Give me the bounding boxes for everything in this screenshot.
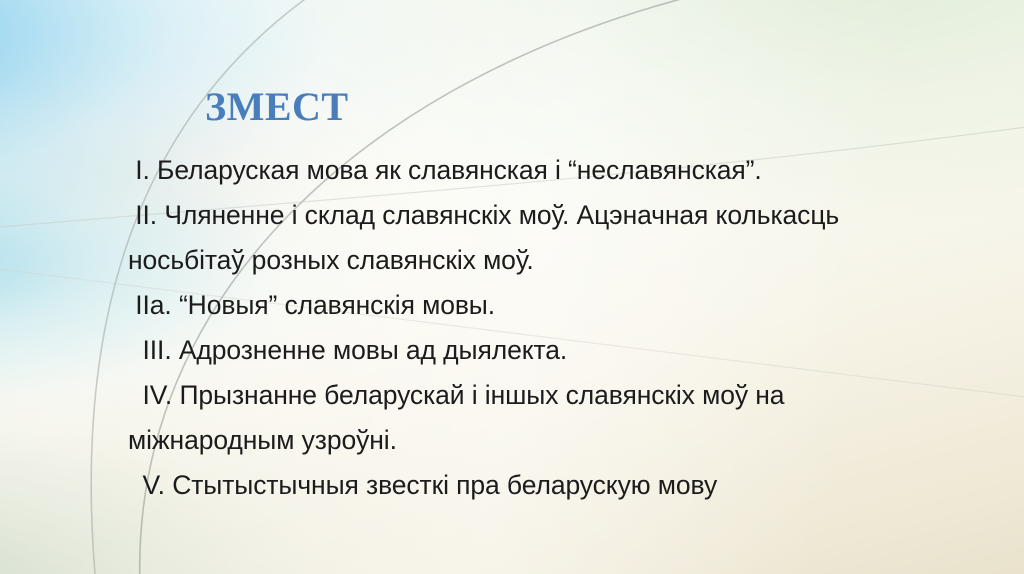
list-item: IIа. “Новыя” славянскія мовы. — [128, 283, 958, 328]
slide-content: ЗМЕСТ I. Беларуская мова як славянская і… — [0, 0, 1024, 574]
list-item: I. Беларуская мова як славянская і “несл… — [128, 148, 958, 193]
page-title: ЗМЕСТ — [205, 83, 349, 130]
list-item: III. Адрозненне мовы ад дыялекта. — [128, 328, 958, 373]
presentation-slide: ЗМЕСТ I. Беларуская мова як славянская і… — [0, 0, 1024, 574]
list-item: II. Чляненне і склад славянскіх моў. Ацэ… — [128, 193, 958, 283]
table-of-contents-list: I. Беларуская мова як славянская і “несл… — [128, 148, 958, 508]
list-item: IV. Прызнанне беларускай і іншых славянс… — [128, 373, 958, 463]
list-item: V. Стытыстычныя звесткі пра беларускую м… — [128, 463, 958, 508]
